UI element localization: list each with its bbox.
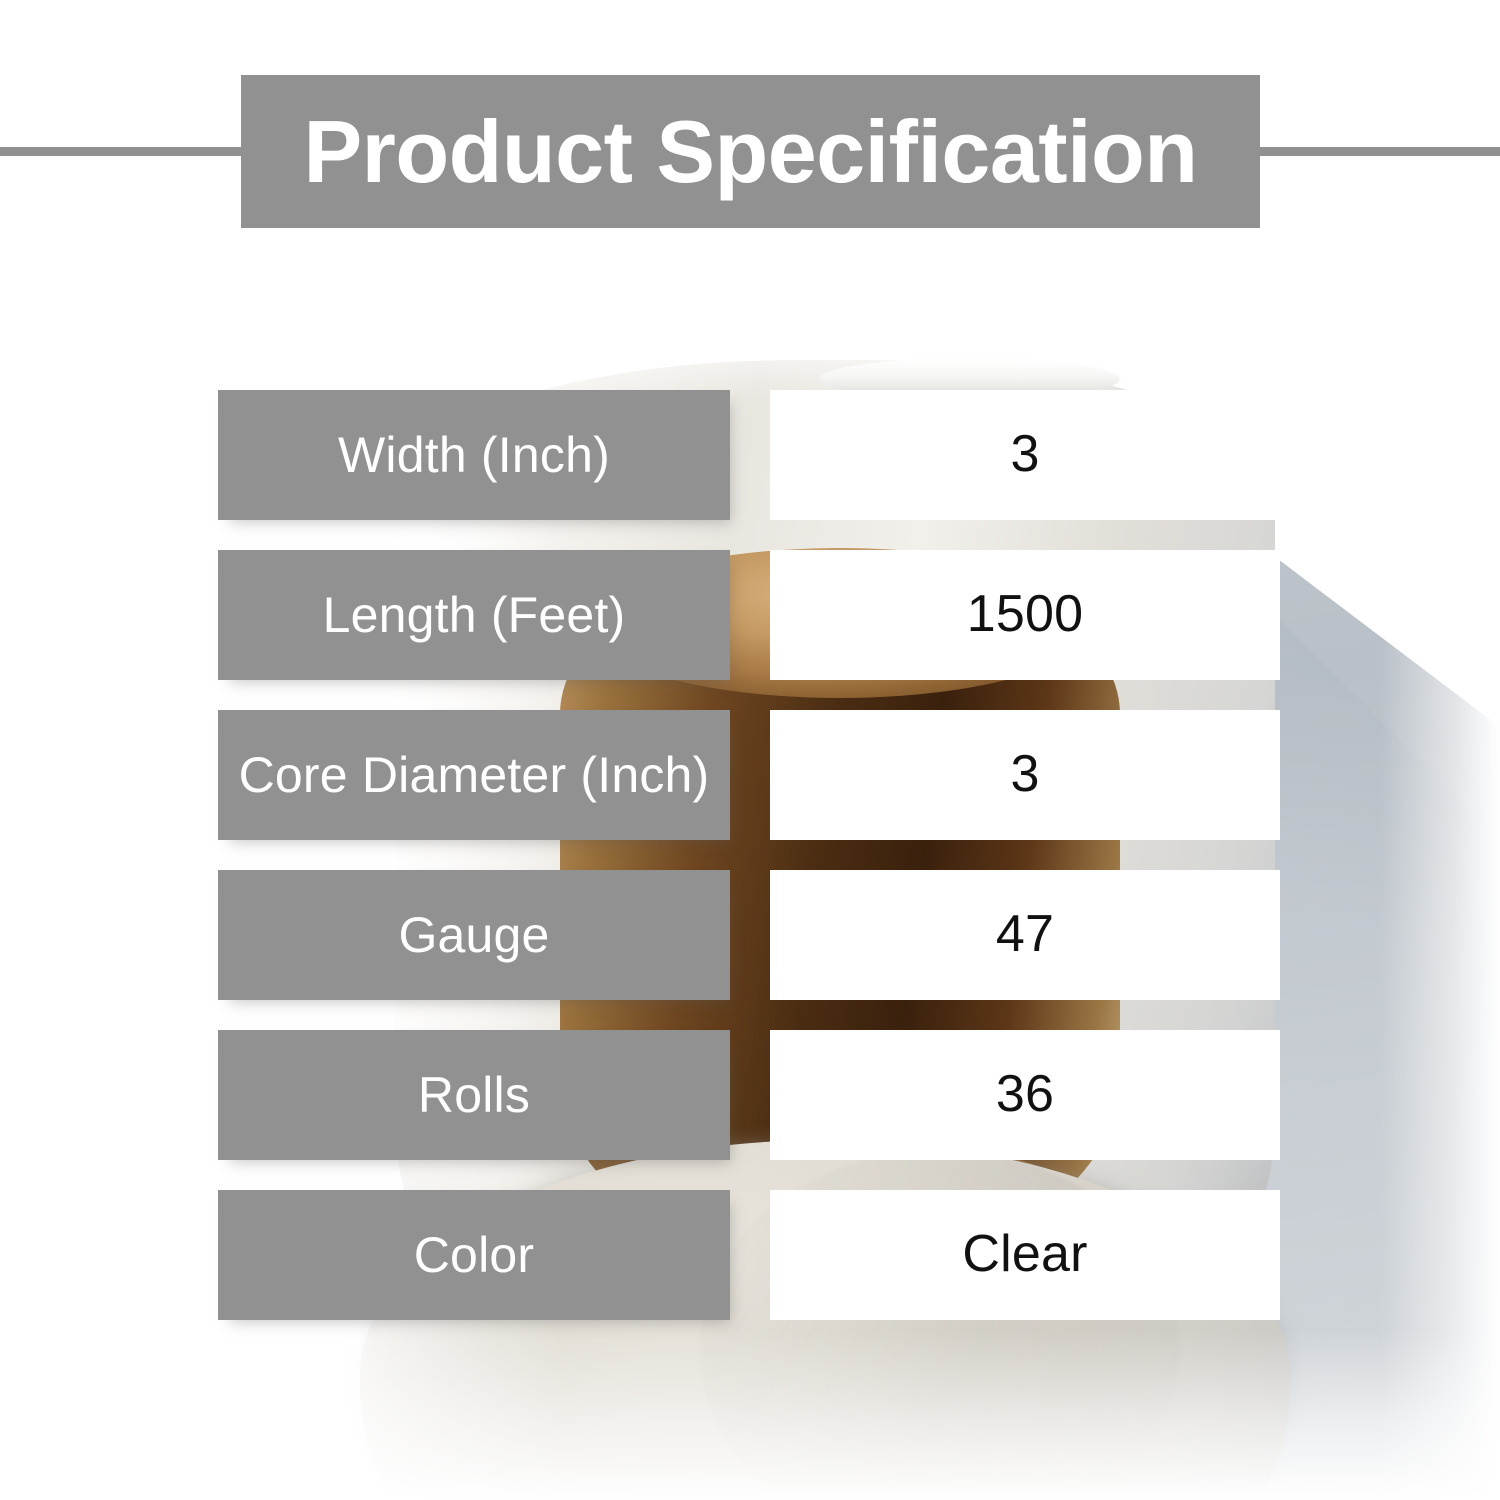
table-row: Width (Inch) 3 bbox=[0, 390, 1500, 520]
table-row: Gauge 47 bbox=[0, 870, 1500, 1000]
table-row: Core Diameter (Inch) 3 bbox=[0, 710, 1500, 840]
spec-label-gauge: Gauge bbox=[218, 870, 730, 1000]
spec-label-length: Length (Feet) bbox=[218, 550, 730, 680]
photo-fade-bottom bbox=[0, 1330, 1500, 1500]
spec-value-gauge: 47 bbox=[770, 870, 1280, 1000]
table-row: Rolls 36 bbox=[0, 1030, 1500, 1160]
spec-value-core-diameter: 3 bbox=[770, 710, 1280, 840]
spec-value-length: 1500 bbox=[770, 550, 1280, 680]
spec-label-core-diameter: Core Diameter (Inch) bbox=[218, 710, 730, 840]
spec-label-width: Width (Inch) bbox=[218, 390, 730, 520]
header-banner: Product Specification bbox=[241, 75, 1260, 228]
table-row: Length (Feet) 1500 bbox=[0, 550, 1500, 680]
spec-value-width: 3 bbox=[770, 390, 1280, 520]
spec-label-rolls: Rolls bbox=[218, 1030, 730, 1160]
spec-value-rolls: 36 bbox=[770, 1030, 1280, 1160]
product-specification-infographic: Product Specification Width (Inch) 3 Len… bbox=[0, 0, 1500, 1500]
table-row: Color Clear bbox=[0, 1190, 1500, 1320]
specification-table: Width (Inch) 3 Length (Feet) 1500 Core D… bbox=[0, 390, 1500, 1350]
header: Product Specification bbox=[0, 0, 1500, 300]
page-title: Product Specification bbox=[303, 108, 1197, 196]
spec-value-color: Clear bbox=[770, 1190, 1280, 1320]
spec-label-color: Color bbox=[218, 1190, 730, 1320]
